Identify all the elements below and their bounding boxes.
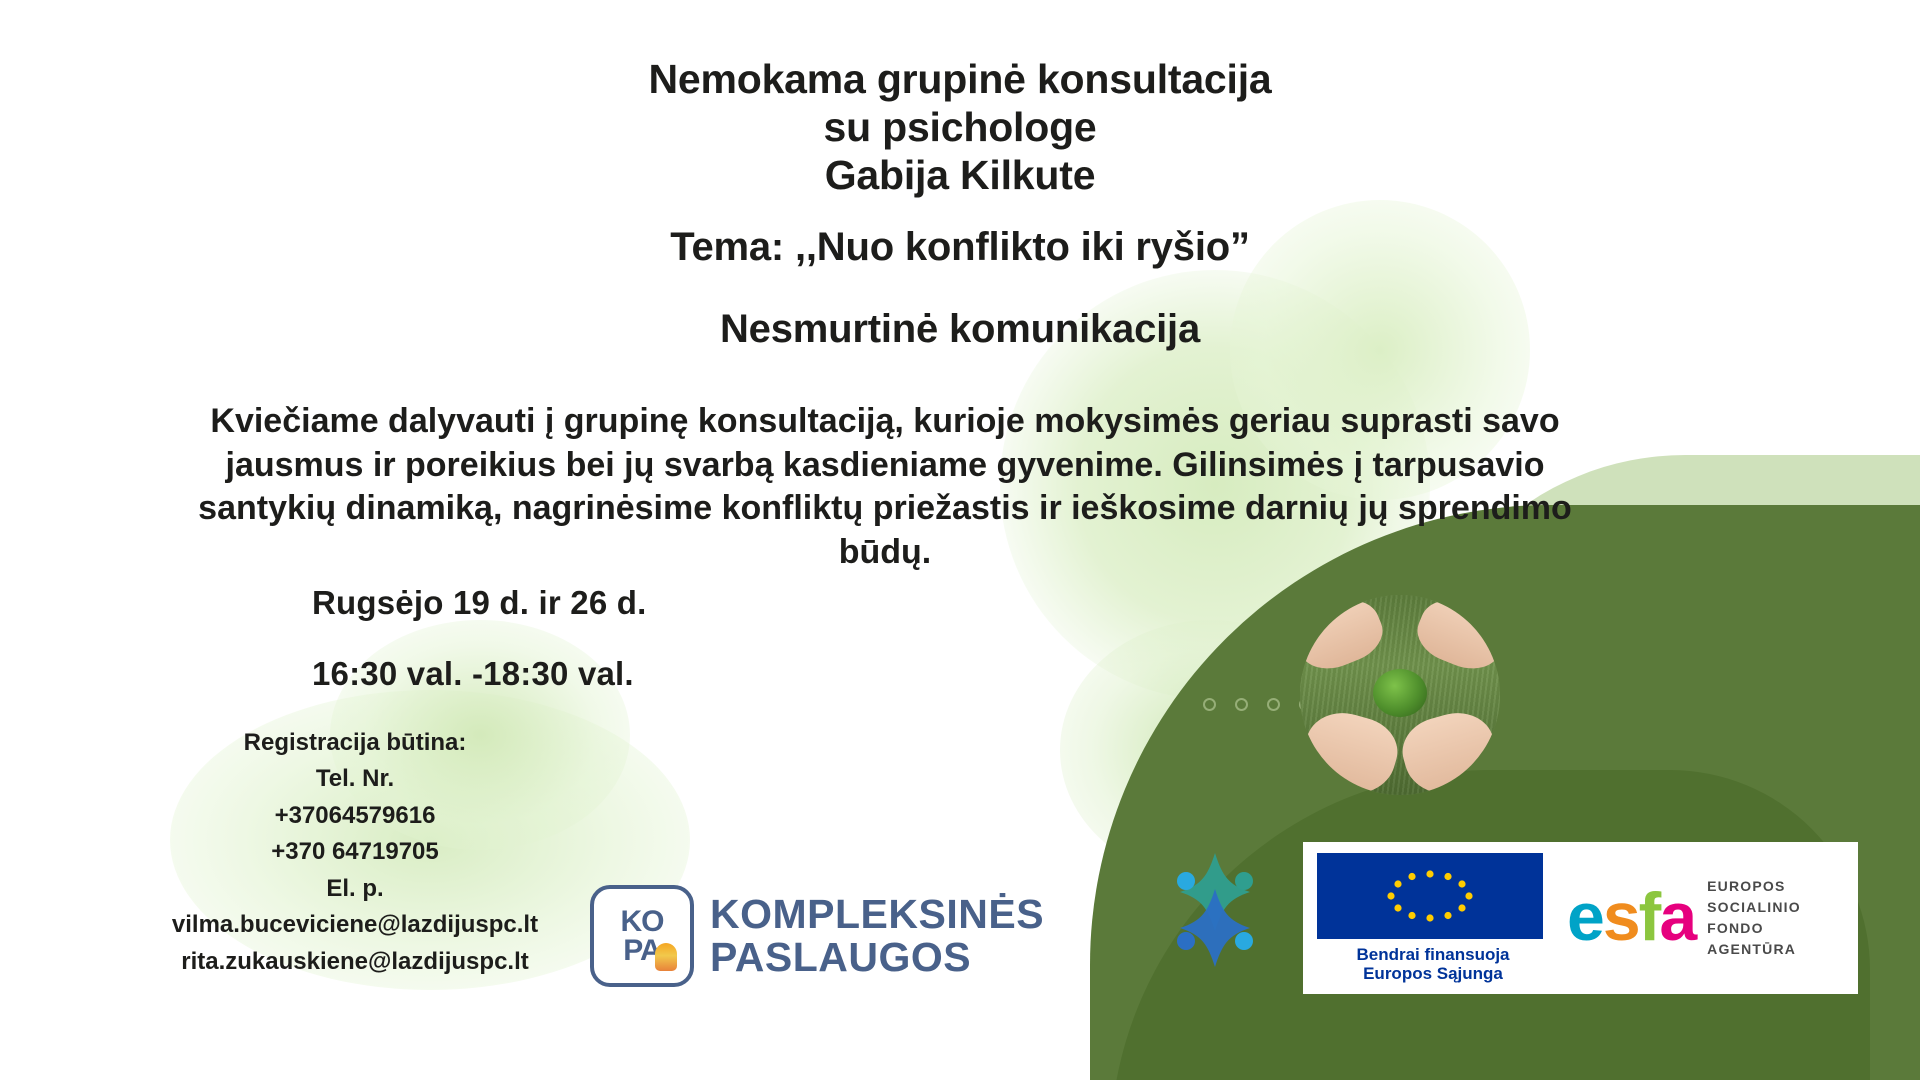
eu-flag-block: Bendrai finansuoja Europos Sąjunga <box>1317 853 1549 983</box>
phone-number-2[interactable]: +370 64719705 <box>110 834 600 870</box>
poster-theme: Tema: ,,Nuo konflikto iki ryšio” <box>0 224 1920 271</box>
esfa-sub-line-4: AGENTŪRA <box>1707 939 1801 960</box>
decorative-dot <box>1267 698 1280 711</box>
poster-subtitle: Nesmurtinė komunikacija <box>0 306 1920 353</box>
email-label: El. p. <box>110 871 600 907</box>
phone-number-1[interactable]: +37064579616 <box>110 798 600 834</box>
esfa-wordmark: e s f a <box>1567 887 1695 948</box>
esfa-subtitle: EUROPOS SOCIALINIO FONDO AGENTŪRA <box>1707 876 1801 960</box>
title-line-1: Nemokama grupinė konsultacija <box>0 56 1920 104</box>
funding-logos-panel: Bendrai finansuoja Europos Sąjunga e s f… <box>1303 842 1858 994</box>
eu-funding-caption: Bendrai finansuoja Europos Sąjunga <box>1317 945 1549 983</box>
esfa-sub-line-2: SOCIALINIO <box>1707 897 1801 918</box>
email-address-1[interactable]: vilma.buceviciene@lazdijuspc.lt <box>110 907 600 943</box>
title-line-3: Gabija Kilkute <box>0 152 1920 200</box>
esfa-letter-s: s <box>1603 887 1639 948</box>
event-time: 16:30 val. -18:30 val. <box>312 655 634 693</box>
kopa-logo-wordmark: KOMPLEKSINĖS PASLAUGOS <box>710 893 1044 980</box>
hands-holding-plant-photo <box>1300 595 1500 795</box>
plant-sprout <box>1373 669 1427 717</box>
esfa-letter-f: f <box>1639 887 1660 948</box>
esfa-sub-line-1: EUROPOS <box>1707 876 1801 897</box>
people-emblem-icon <box>1150 845 1280 975</box>
kopa-word-line-2: PASLAUGOS <box>710 936 1044 979</box>
event-date: Rugsėjo 19 d. ir 26 d. <box>312 584 647 622</box>
registration-label: Registracija būtina: <box>110 725 600 761</box>
eu-caption-line-2: Europos Sąjunga <box>1317 964 1549 983</box>
kopa-flame-icon <box>655 943 677 971</box>
title-line-2: su psichologe <box>0 104 1920 152</box>
kopa-word-line-1: KOMPLEKSINĖS <box>710 893 1044 936</box>
esfa-logo: e s f a EUROPOS SOCIALINIO FONDO AGENTŪR… <box>1567 876 1801 960</box>
phone-label: Tel. Nr. <box>110 761 600 797</box>
decorative-dot-row <box>1203 698 1312 711</box>
kopa-mark-line-1: KO <box>621 907 664 936</box>
contact-info-block: Registracija būtina: Tel. Nr. +370645796… <box>110 725 600 980</box>
esfa-letter-e: e <box>1567 887 1603 948</box>
decorative-dot <box>1235 698 1248 711</box>
kopa-logo: KO PA KOMPLEKSINĖS PASLAUGOS <box>590 885 1044 987</box>
esfa-letter-a: a <box>1659 887 1695 948</box>
decorative-dot <box>1203 698 1216 711</box>
esfa-sub-line-3: FONDO <box>1707 918 1801 939</box>
poster-body-paragraph: Kviečiame dalyvauti į grupinę konsultaci… <box>190 400 1580 574</box>
poster-title: Nemokama grupinė konsultacija su psichol… <box>0 56 1920 200</box>
eu-caption-line-1: Bendrai finansuoja <box>1317 945 1549 964</box>
eu-flag-icon <box>1317 853 1543 939</box>
email-address-2[interactable]: rita.zukauskiene@lazdijuspc.lt <box>110 944 600 980</box>
kopa-logo-mark: KO PA <box>590 885 694 987</box>
poster-canvas: Nemokama grupinė konsultacija su psichol… <box>0 0 1920 1080</box>
